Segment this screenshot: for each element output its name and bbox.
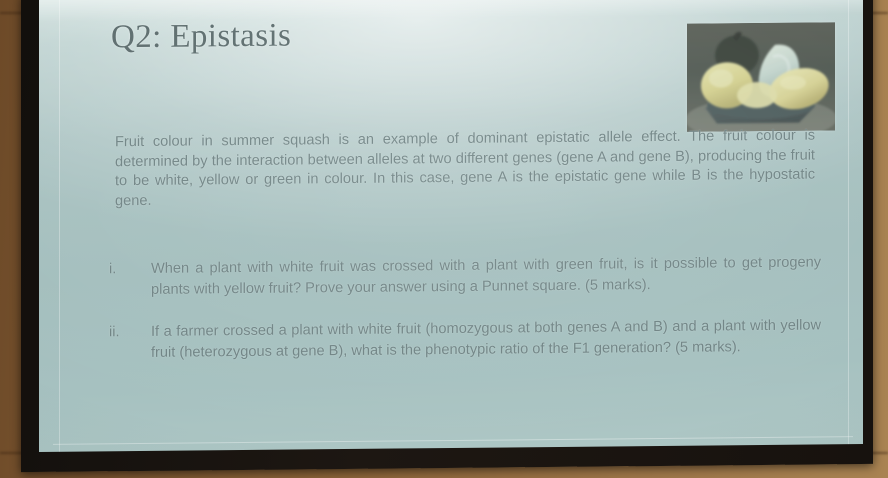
- slide-body-paragraph: Fruit colour in summer squash is an exam…: [115, 127, 815, 212]
- question-text: If a farmer crossed a plant with white f…: [151, 316, 821, 364]
- question-text: When a plant with white fruit was crosse…: [151, 252, 821, 300]
- projection-screen-surface: Q2: Epistasis: [39, 0, 863, 452]
- projected-slide-photo: Q2: Epistasis: [0, 0, 888, 478]
- slide-title: Q2: Epistasis: [111, 18, 291, 56]
- question-list: i. When a plant with white fruit was cro…: [109, 252, 821, 385]
- question-marker: ii.: [109, 322, 151, 364]
- summer-squash-photo: [687, 22, 835, 131]
- slide-content: Q2: Epistasis: [39, 0, 863, 452]
- question-marker: i.: [109, 259, 151, 301]
- question-item: ii. If a farmer crossed a plant with whi…: [109, 316, 821, 364]
- question-item: i. When a plant with white fruit was cro…: [109, 252, 821, 300]
